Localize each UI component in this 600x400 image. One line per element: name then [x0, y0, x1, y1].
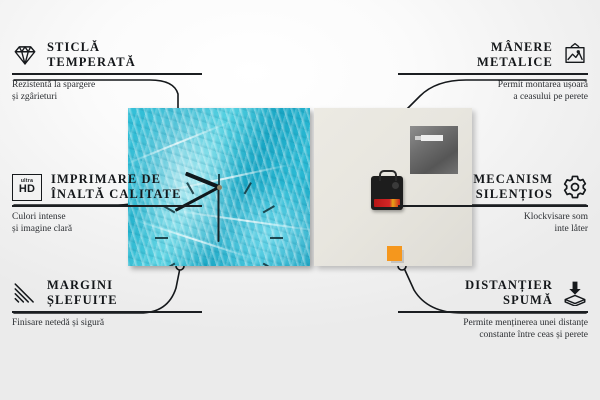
callout-title: STICLĂ TEMPERATĂ — [47, 40, 136, 70]
callout-metal-handles: MÂNERE METALICE Permit montarea ușoară a… — [398, 40, 588, 103]
callout-foam-spacer: DISTANȚIER SPUMĂ Permite menținerea unei… — [398, 278, 588, 341]
callout-subtitle: Rezistentă la spargere și zgârieturi — [12, 79, 202, 103]
callout-head: MECANISM SILENȚIOS — [398, 172, 588, 202]
callout-head: MARGINI ȘLEFUITE — [12, 278, 202, 308]
clock-tick — [155, 237, 168, 239]
callout-head: ultra HD IMPRIMARE DE ÎNALTĂ CALITATE — [12, 172, 202, 202]
callout-subtitle: Permite menținerea unei distanțe constan… — [398, 317, 588, 341]
callout-title: DISTANȚIER SPUMĂ — [465, 278, 553, 308]
callout-subtitle: Permit montarea ușoară a ceasului pe per… — [398, 79, 588, 103]
infographic-stage: STICLĂ TEMPERATĂ Rezistentă la spargere … — [0, 0, 600, 400]
hanger-slot — [421, 135, 443, 141]
mechanism-battery — [374, 199, 400, 207]
clock-tick — [270, 237, 283, 239]
clock-tick — [263, 263, 275, 266]
callout-tempered-glass: STICLĂ TEMPERATĂ Rezistentă la spargere … — [12, 40, 202, 103]
mechanism-loop — [379, 170, 397, 181]
callout-head: STICLĂ TEMPERATĂ — [12, 40, 202, 70]
clock-center-cap — [217, 185, 222, 190]
callout-title: MECANISM SILENȚIOS — [473, 172, 553, 202]
metal-hanger-part — [410, 126, 458, 174]
callout-divider — [398, 311, 588, 313]
foam-spacer-icon — [562, 280, 588, 306]
picture-hanger-icon — [562, 42, 588, 68]
clock-second-hand — [218, 187, 220, 242]
callout-title: IMPRIMARE DE ÎNALTĂ CALITATE — [51, 172, 182, 202]
callout-title: MÂNERE METALICE — [477, 40, 553, 70]
gear-icon — [562, 174, 588, 200]
foam-spacer-part — [387, 246, 402, 261]
ultra-hd-badge-icon: ultra HD — [12, 174, 42, 201]
clock-tick — [163, 263, 175, 266]
callout-divider — [12, 311, 202, 313]
callout-subtitle: Klockvisare som inte låter — [398, 211, 588, 235]
diamond-icon — [12, 42, 38, 68]
callout-silent-mechanism: MECANISM SILENȚIOS Klockvisare som inte … — [398, 172, 588, 235]
callout-high-quality-print: ultra HD IMPRIMARE DE ÎNALTĂ CALITATE Cu… — [12, 172, 202, 235]
callout-divider — [398, 73, 588, 75]
callout-polished-edges: MARGINI ȘLEFUITE Finisare netedă și sigu… — [12, 278, 202, 329]
callout-divider — [398, 205, 588, 207]
callout-head: MÂNERE METALICE — [398, 40, 588, 70]
callout-subtitle: Culori intense și imagine clară — [12, 211, 202, 235]
callout-divider — [12, 73, 202, 75]
callout-divider — [12, 205, 202, 207]
clock-tick — [263, 205, 275, 213]
callout-title: MARGINI ȘLEFUITE — [47, 278, 118, 308]
clock-tick — [244, 182, 252, 194]
callout-subtitle: Finisare netedă și sigură — [12, 317, 202, 329]
polished-edge-icon — [12, 280, 38, 306]
callout-head: DISTANȚIER SPUMĂ — [398, 278, 588, 308]
